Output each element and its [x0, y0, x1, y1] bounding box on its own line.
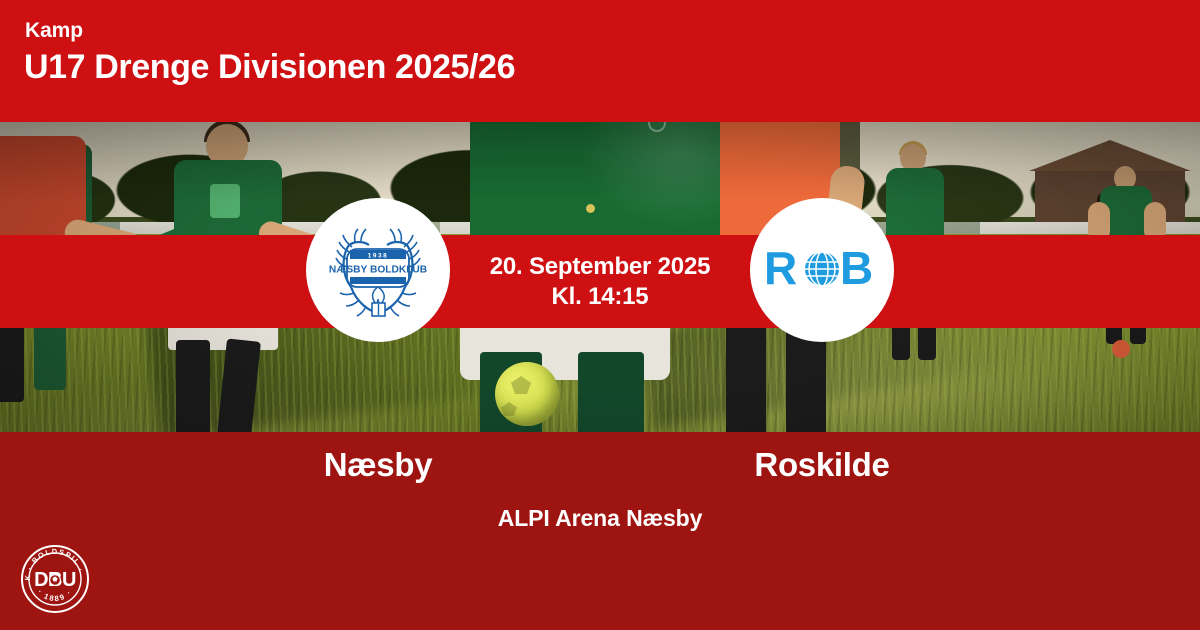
home-team-crest[interactable]: 1938 NÆSBY BOLDKLUB — [306, 198, 450, 342]
match-poster: Kamp U17 Drenge Divisionen 2025/26 — [0, 0, 1200, 630]
globe-icon — [805, 252, 839, 286]
logo-letter-b: B — [840, 242, 873, 294]
match-time: Kl. 14:15 — [552, 283, 649, 311]
naesby-boldklub-crest-icon: 1938 NÆSBY BOLDKLUB — [319, 211, 437, 329]
home-team-name: Næsby — [178, 446, 578, 484]
roskilde-boldklub-logo-icon: R B — [762, 242, 882, 298]
away-team-name: Roskilde — [622, 446, 1022, 484]
logo-letter-r: R — [764, 242, 797, 294]
venue-name: ALPI Arena Næsby — [0, 505, 1200, 532]
svg-text:NÆSBY BOLDKLUB: NÆSBY BOLDKLUB — [329, 265, 427, 276]
dbu-logo-icon: DANSK · BOLDSPIL · UNION · 1889 · DBU — [18, 542, 92, 616]
page-title: U17 Drenge Divisionen 2025/26 — [24, 48, 515, 87]
away-team-crest[interactable]: R B — [750, 198, 894, 342]
poster-header: Kamp U17 Drenge Divisionen 2025/26 — [0, 0, 1200, 122]
header-kicker: Kamp — [25, 19, 83, 43]
svg-text:1938: 1938 — [368, 252, 389, 259]
match-date: 20. September 2025 — [490, 253, 711, 281]
dbu-logo[interactable]: DANSK · BOLDSPIL · UNION · 1889 · DBU — [18, 542, 92, 616]
match-date-text: 20. September 2025 Kl. 14:15 — [450, 235, 750, 328]
